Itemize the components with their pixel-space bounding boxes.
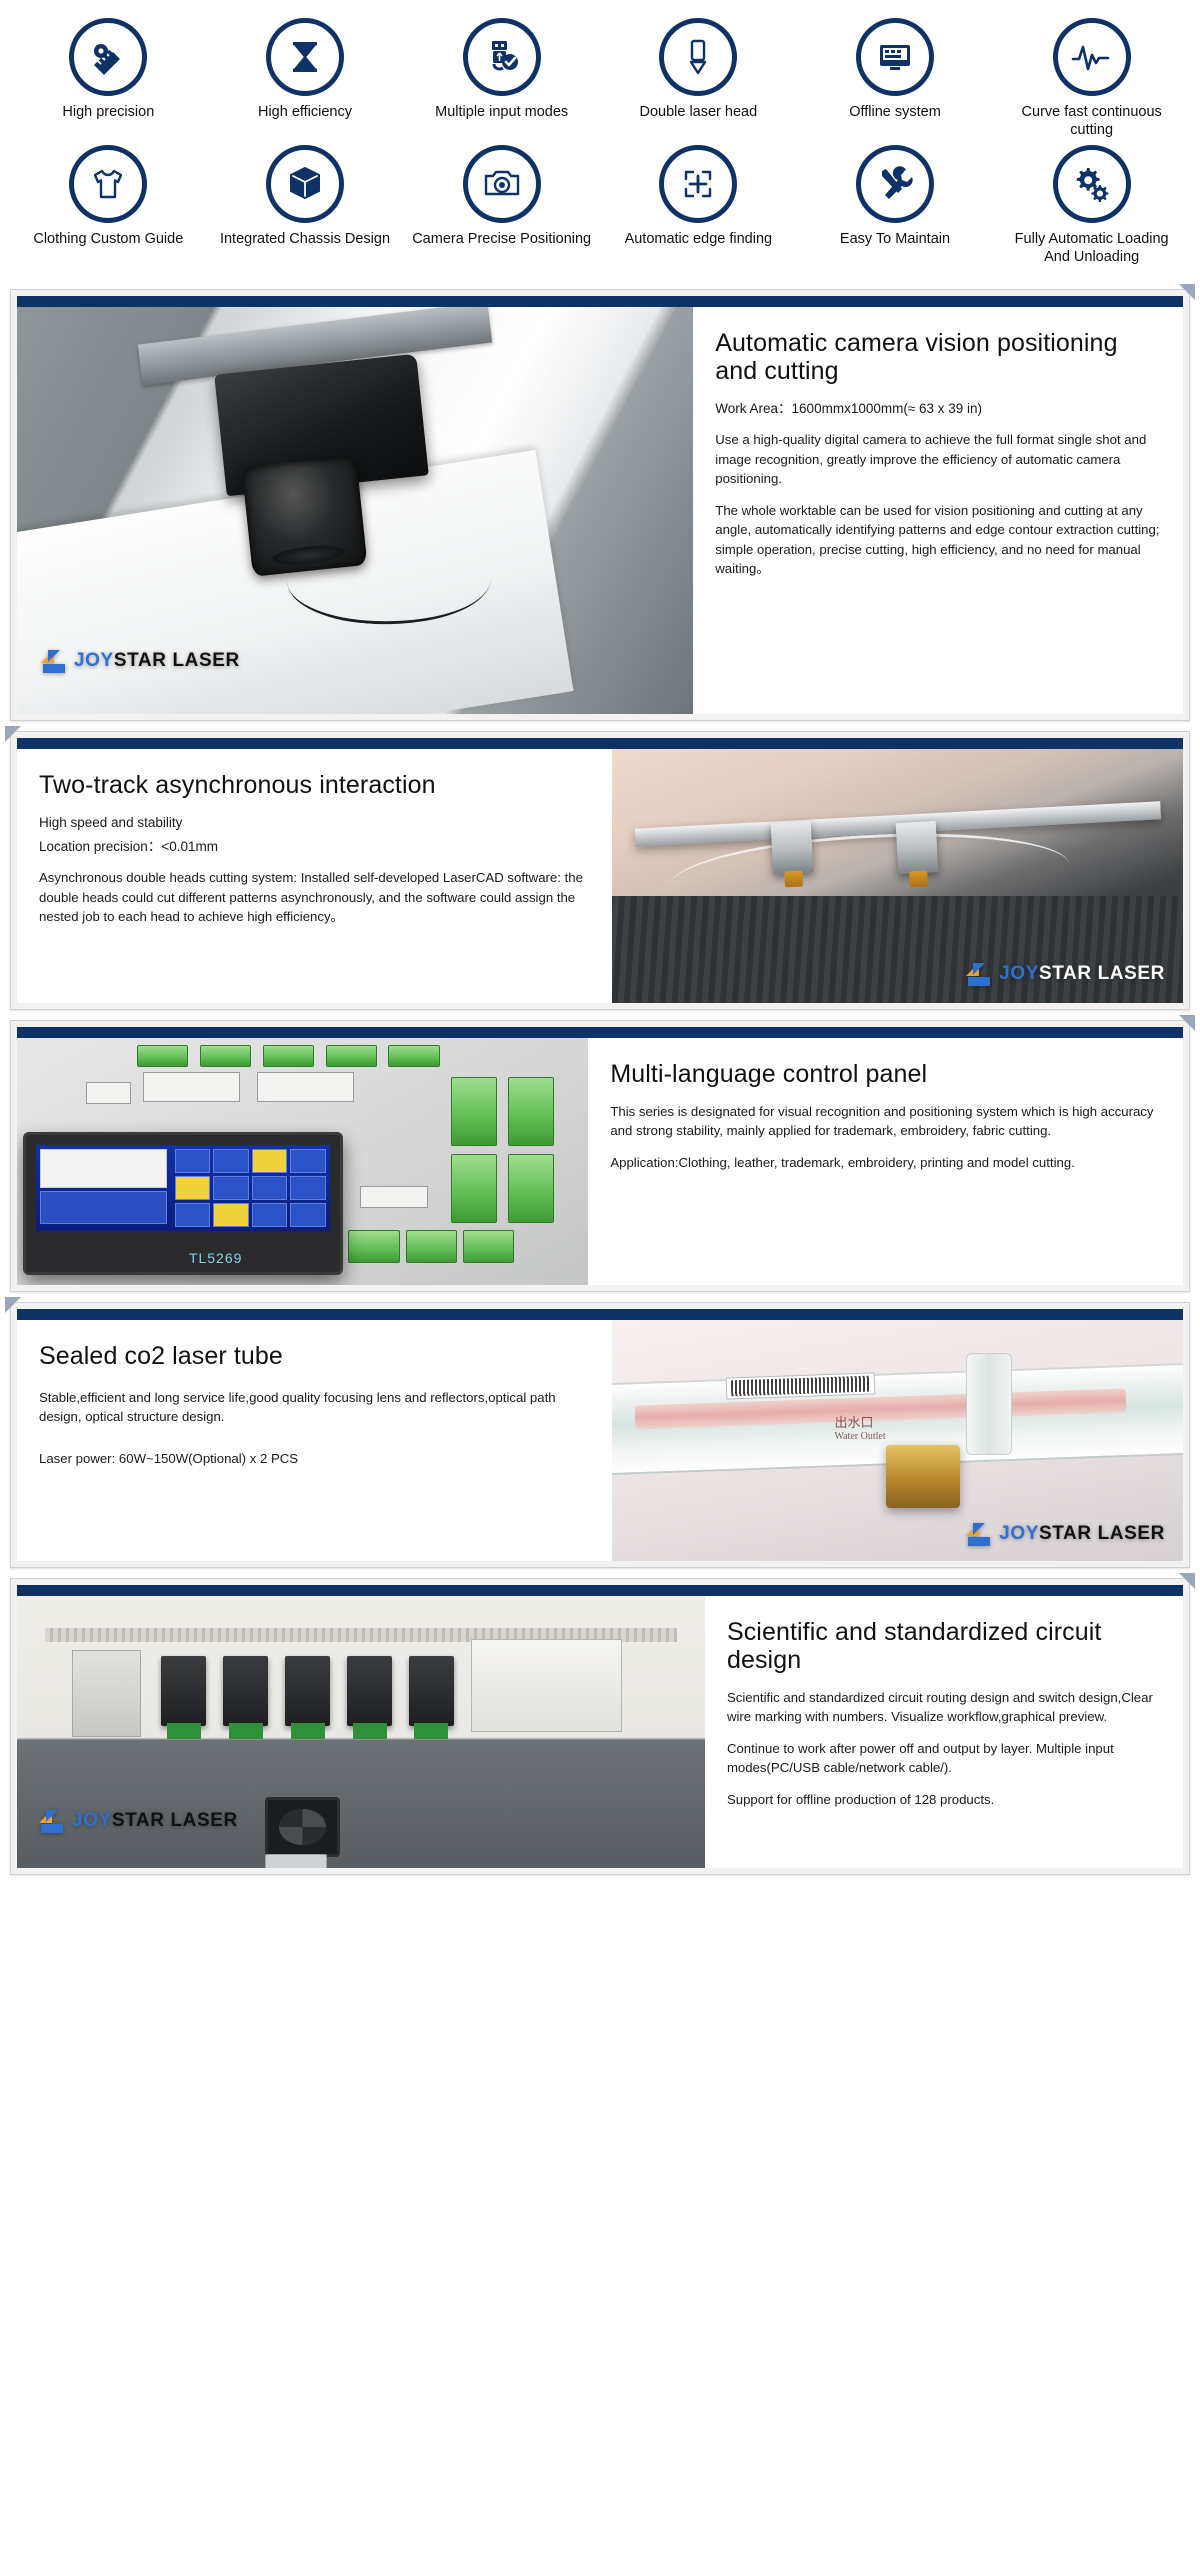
chassis-box-icon bbox=[266, 145, 344, 223]
panel-text-control-panel: Multi-language control panel This series… bbox=[588, 1038, 1183, 1285]
joystar-mark-icon bbox=[41, 648, 67, 674]
panel-paragraph: Continue to work after power off and out… bbox=[727, 1739, 1163, 1778]
feature-item-integrated-chassis[interactable]: Integrated Chassis Design bbox=[207, 145, 404, 266]
brand-joy: JOY bbox=[999, 963, 1039, 984]
waveform-curve-icon bbox=[1053, 18, 1131, 96]
feature-item-edge-finding[interactable]: Automatic edge finding bbox=[600, 145, 797, 266]
usb-check-icon bbox=[463, 18, 541, 96]
panel-paragraph: Laser power: 60W~150W(Optional) x 2 PCS bbox=[39, 1449, 592, 1469]
panel-paragraph: Application:Clothing, leather, trademark… bbox=[610, 1153, 1163, 1173]
feature-item-easy-maintain[interactable]: Easy To Maintain bbox=[797, 145, 994, 266]
feature-label: Camera Precise Positioning bbox=[412, 231, 591, 249]
feature-icon-grid: High precision High efficiency bbox=[0, 0, 1200, 275]
feature-label: Multiple input modes bbox=[435, 104, 568, 122]
joystar-mark-icon bbox=[39, 1808, 65, 1834]
feature-item-curve-fast-cutting[interactable]: Curve fast continuous cutting bbox=[993, 18, 1190, 139]
panel-paragraph: Support for offline production of 128 pr… bbox=[727, 1790, 1163, 1810]
brand-joy: JOY bbox=[74, 650, 114, 671]
panel-paragraph: The whole worktable can be used for visi… bbox=[715, 501, 1163, 579]
tube-caption-en: Water Outlet bbox=[834, 1431, 885, 1443]
panel-title: Two-track asynchronous interaction bbox=[39, 771, 592, 799]
brand-star: STAR bbox=[114, 650, 167, 671]
product-feature-page: High precision High efficiency bbox=[0, 0, 1200, 1875]
photo-two-track-bed: JOYSTAR LASER bbox=[612, 749, 1183, 1003]
panel-spec-line: High speed and stability bbox=[39, 813, 592, 833]
photo-control-board: TL5269 bbox=[17, 1038, 588, 1285]
panel-laser-tube: 出水口 Water Outlet JOYSTAR LASER Sealed co… bbox=[10, 1302, 1190, 1568]
feature-item-multiple-input-modes[interactable]: Multiple input modes bbox=[403, 18, 600, 139]
panel-text-circuit-design: Scientific and standardized circuit desi… bbox=[705, 1596, 1183, 1868]
brand-star: STAR bbox=[1039, 1523, 1092, 1544]
panel-paragraph: This series is designated for visual rec… bbox=[610, 1102, 1163, 1141]
ruler-precision-icon bbox=[69, 18, 147, 96]
feature-label: Offline system bbox=[849, 104, 941, 122]
panel-camera-vision: JOYSTAR LASER Automatic camera vision po… bbox=[10, 289, 1190, 721]
panel-text-two-track: Two-track asynchronous interaction High … bbox=[17, 749, 612, 1003]
feature-label: Integrated Chassis Design bbox=[220, 231, 390, 249]
pencil-laser-head-icon bbox=[659, 18, 737, 96]
feature-item-high-precision[interactable]: High precision bbox=[10, 18, 207, 139]
brand-laser: LASER bbox=[1098, 1523, 1165, 1544]
feature-label: High precision bbox=[62, 104, 154, 122]
panel-paragraph: Stable,efficient and long service life,g… bbox=[39, 1388, 592, 1427]
panel-text-laser-tube: Sealed co2 laser tube Stable,efficient a… bbox=[17, 1320, 612, 1561]
tube-caption-cn: 出水口 bbox=[834, 1416, 885, 1431]
photo-laser-tube: 出水口 Water Outlet JOYSTAR LASER bbox=[612, 1320, 1183, 1561]
brand-star: STAR bbox=[112, 1810, 165, 1831]
watermark-logo: JOYSTAR LASER bbox=[39, 1808, 238, 1834]
camera-icon bbox=[463, 145, 541, 223]
watermark-logo: JOYSTAR LASER bbox=[41, 648, 240, 674]
feature-label: High efficiency bbox=[258, 104, 352, 122]
feature-item-camera-positioning[interactable]: Camera Precise Positioning bbox=[403, 145, 600, 266]
photo-electrical-cabinet: JOYSTAR LASER bbox=[17, 1596, 705, 1868]
feature-label: Double laser head bbox=[639, 104, 757, 122]
panel-spec-line: Location precision：<0.01mm bbox=[39, 837, 592, 857]
feature-item-double-laser-head[interactable]: Double laser head bbox=[600, 18, 797, 139]
tools-wrench-icon bbox=[856, 145, 934, 223]
brand-star: STAR bbox=[1039, 963, 1092, 984]
panel-title: Multi-language control panel bbox=[610, 1060, 1163, 1088]
feature-label: Fully Automatic Loading And Unloading bbox=[1002, 231, 1182, 266]
gears-icon bbox=[1053, 145, 1131, 223]
feature-label: Curve fast continuous cutting bbox=[1002, 104, 1182, 139]
brand-joy: JOY bbox=[999, 1523, 1039, 1544]
panel-text-camera-vision: Automatic camera vision positioning and … bbox=[693, 307, 1183, 714]
feature-item-offline-system[interactable]: Offline system bbox=[797, 18, 994, 139]
feature-label: Automatic edge finding bbox=[625, 231, 773, 249]
panel-title: Automatic camera vision positioning and … bbox=[715, 329, 1163, 385]
panel-title: Sealed co2 laser tube bbox=[39, 1342, 592, 1370]
panel-title: Scientific and standardized circuit desi… bbox=[727, 1618, 1163, 1674]
watermark-logo: JOYSTAR LASER bbox=[966, 961, 1165, 987]
feature-label: Clothing Custom Guide bbox=[33, 231, 183, 249]
feature-item-high-efficiency[interactable]: High efficiency bbox=[207, 18, 404, 139]
panel-two-track: JOYSTAR LASER Two-track asynchronous int… bbox=[10, 731, 1190, 1010]
joystar-mark-icon bbox=[966, 1521, 992, 1547]
brand-laser: LASER bbox=[172, 650, 239, 671]
brand-laser: LASER bbox=[1098, 963, 1165, 984]
feature-label: Easy To Maintain bbox=[840, 231, 950, 249]
panel-paragraph: Scientific and standardized circuit rout… bbox=[727, 1688, 1163, 1727]
joystar-mark-icon bbox=[966, 961, 992, 987]
offline-monitor-icon bbox=[856, 18, 934, 96]
panel-paragraph: Asynchronous double heads cutting system… bbox=[39, 868, 592, 927]
panel-circuit-design: JOYSTAR LASER Scientific and standardize… bbox=[10, 1578, 1190, 1875]
panel-spec: Work Area：1600mmx1000mm(≈ 63 x 39 in) bbox=[715, 399, 1163, 419]
photo-camera-vision: JOYSTAR LASER bbox=[17, 307, 693, 714]
feature-item-auto-loading[interactable]: Fully Automatic Loading And Unloading bbox=[993, 145, 1190, 266]
watermark-logo: JOYSTAR LASER bbox=[966, 1521, 1165, 1547]
brand-joy: JOY bbox=[72, 1810, 112, 1831]
feature-item-clothing-custom-guide[interactable]: Clothing Custom Guide bbox=[10, 145, 207, 266]
brand-laser: LASER bbox=[170, 1810, 237, 1831]
tshirt-icon bbox=[69, 145, 147, 223]
crosshair-focus-icon bbox=[659, 145, 737, 223]
device-model-label: TL5269 bbox=[189, 1250, 242, 1266]
panel-control-panel: TL5269 Multi-language control panel This… bbox=[10, 1020, 1190, 1292]
hourglass-icon bbox=[266, 18, 344, 96]
panel-paragraph: Use a high-quality digital camera to ach… bbox=[715, 430, 1163, 489]
